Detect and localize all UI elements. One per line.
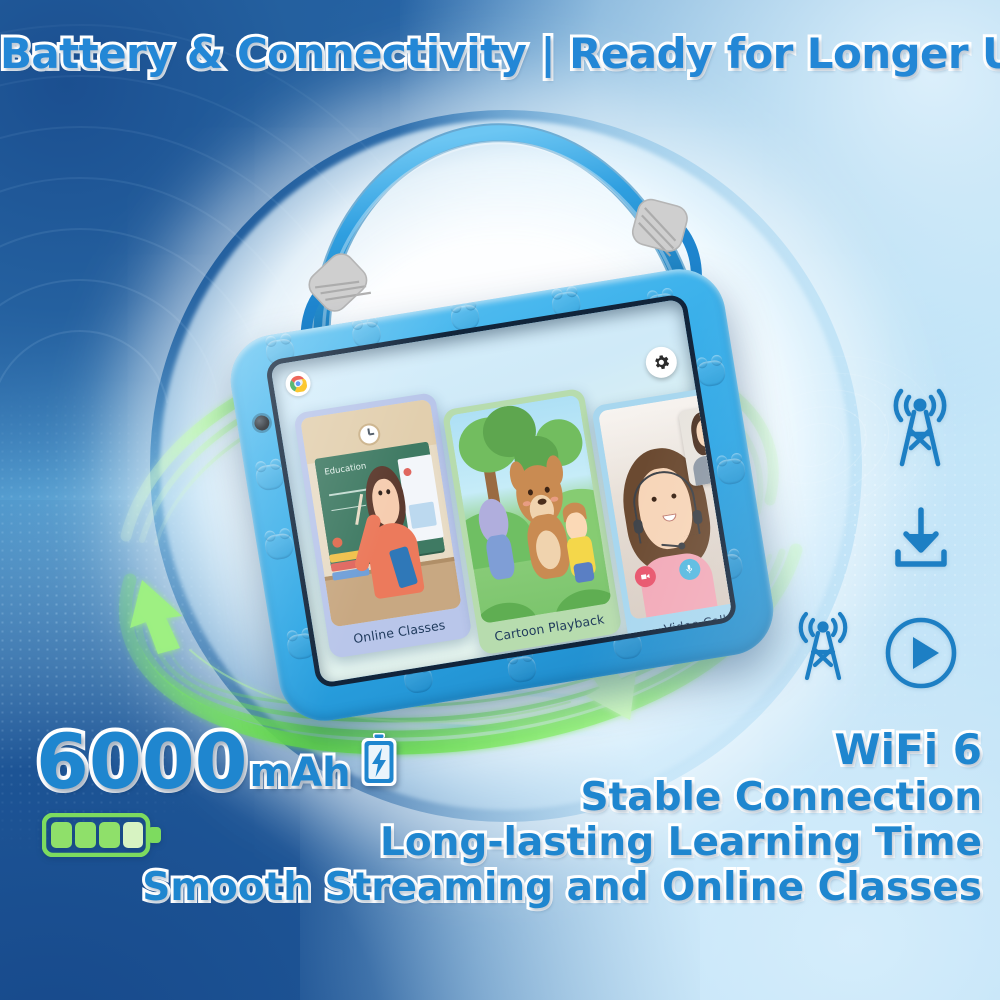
app-card-label: Cartoon Playback [482, 603, 616, 655]
tablet-protective-case: Education [224, 263, 780, 728]
tablet-screen[interactable]: Education [270, 299, 732, 683]
app-card-label: Online Classes [332, 607, 466, 658]
bear-emboss-icon [403, 666, 435, 695]
clock-icon [356, 422, 381, 447]
signal-tower-icon [884, 386, 956, 475]
end-call-icon[interactable] [722, 550, 733, 574]
bear-emboss-icon [506, 655, 538, 684]
chrome-icon[interactable] [284, 369, 313, 398]
app-card-label: Video Calls [632, 599, 733, 651]
promo-banner: Battery & Connectivity | Ready for Longe… [0, 0, 1000, 1000]
bear-emboss-icon [351, 320, 383, 349]
play-button-icon [884, 616, 958, 695]
gear-icon[interactable] [644, 345, 680, 381]
feature-line-1: WiFi 6 [142, 726, 982, 775]
microphone-icon[interactable] [678, 557, 702, 581]
chalkboard-text: Education [324, 461, 367, 477]
bear-emboss-icon [264, 532, 296, 561]
bear-emboss-icon [713, 553, 745, 582]
bear-emboss-icon [646, 292, 678, 321]
call-controls[interactable] [634, 550, 733, 589]
front-camera-icon [253, 414, 270, 431]
bear-emboss-icon [286, 632, 318, 661]
feature-line-3: Long-lasting Learning Time [142, 820, 982, 865]
feature-line-2: Stable Connection [142, 775, 982, 820]
headset-icon [629, 467, 701, 544]
bear-emboss-icon [254, 463, 286, 492]
app-card-cartoon-playback[interactable]: Cartoon Playback [442, 388, 623, 656]
bear-emboss-icon [449, 304, 481, 333]
app-card-list: Education [289, 330, 722, 677]
bear-emboss-icon [695, 359, 727, 388]
online-classes-thumbnail: Education [300, 399, 462, 628]
video-calls-thumbnail [598, 391, 733, 620]
bear-emboss-icon [551, 290, 583, 319]
tablet-device: Education [224, 263, 780, 728]
app-card-online-classes[interactable]: Education [293, 392, 472, 659]
app-card-video-calls[interactable]: Video Calls [591, 384, 732, 652]
bear-emboss-icon [612, 632, 644, 661]
page-title: Battery & Connectivity | Ready for Longe… [0, 29, 1000, 78]
cartoon-playback-thumbnail [449, 395, 612, 624]
video-pip-window [678, 404, 733, 487]
signal-tower-small-icon [792, 610, 854, 687]
bear-emboss-icon [264, 338, 296, 367]
download-icon [890, 506, 952, 577]
camera-icon[interactable] [634, 564, 658, 588]
feature-text-block: WiFi 6 Stable Connection Long-lasting Le… [142, 726, 982, 910]
bear-emboss-icon [715, 457, 747, 486]
feature-line-4: Smooth Streaming and Online Classes [142, 865, 982, 910]
